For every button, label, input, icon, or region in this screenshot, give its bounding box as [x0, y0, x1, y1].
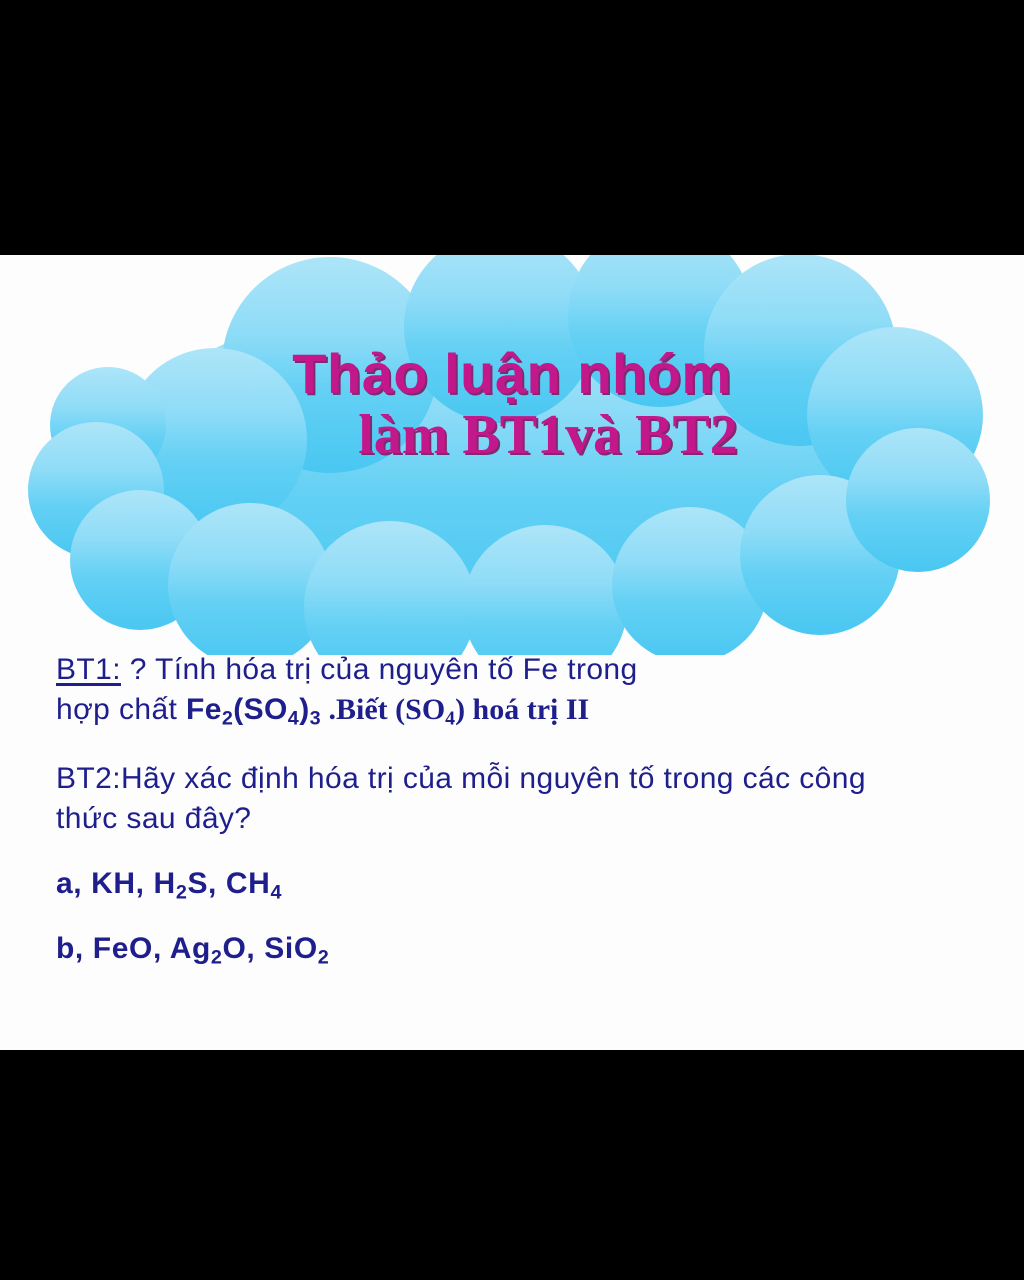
answer-b-sub-2: 2 [318, 946, 330, 968]
cloud-callout: Thảo luận nhóm làm BT1và BT2 [0, 255, 1024, 655]
letterbox-bar-top [0, 0, 1024, 255]
bt1-formula: Fe2(SO4)3 [186, 693, 321, 726]
bt1-line-1: BT1: ? Tính hóa trị của nguyên tố Fe tro… [56, 650, 1008, 690]
bt1-biet-sub: 4 [445, 707, 455, 729]
formula-sub-3: 3 [310, 707, 321, 729]
bt2-block: BT2:Hãy xác định hóa trị của mỗi nguyên … [56, 759, 1008, 838]
bt2-line-1: BT2:Hãy xác định hóa trị của mỗi nguyên … [56, 759, 1008, 799]
bt1-biet-prefix: .Biết (SO [321, 693, 445, 726]
answer-b-mid: O, SiO [223, 932, 318, 965]
slide-screenshot: Thảo luận nhóm làm BT1và BT2 BT1: ? Tính… [0, 0, 1024, 1280]
bt2-line-2: thức sau đây? [56, 799, 1008, 839]
answer-a-prefix: a, KH, H [56, 867, 176, 900]
formula-sub-4: 4 [288, 707, 299, 729]
bt1-biet-suffix: ) hoá trị II [455, 693, 589, 726]
bt2-answer-a: a, KH, H2S, CH4 [56, 864, 1008, 906]
slide-canvas: Thảo luận nhóm làm BT1và BT2 BT1: ? Tính… [0, 255, 1024, 1050]
bt2-answer-b: b, FeO, Ag2O, SiO2 [56, 929, 1008, 971]
bt1-line-2: hợp chất Fe2(SO4)3 .Biết (SO4) hoá trị I… [56, 690, 1008, 732]
formula-sub-2: 2 [222, 707, 233, 729]
formula-so-open: (SO [233, 693, 288, 726]
bt1-line2-prefix: hợp chất [56, 693, 186, 726]
cloud-shape-icon [0, 255, 1024, 655]
answer-b-prefix: b, FeO, Ag [56, 932, 211, 965]
answer-a-mid: S, CH [187, 867, 270, 900]
bt1-label: BT1: [56, 653, 121, 686]
bt1-block: BT1: ? Tính hóa trị của nguyên tố Fe tro… [56, 650, 1008, 731]
formula-close-paren: ) [299, 693, 309, 726]
exercise-text-block: BT1: ? Tính hóa trị của nguyên tố Fe tro… [56, 650, 1008, 993]
bt1-question-text: ? Tính hóa trị của nguyên tố Fe trong [121, 653, 638, 686]
answer-a-sub-1: 2 [176, 882, 188, 904]
letterbox-bar-bottom [0, 1050, 1024, 1280]
answer-a-sub-2: 4 [270, 882, 282, 904]
answer-b-sub-1: 2 [211, 946, 223, 968]
formula-fe: Fe [186, 693, 222, 726]
